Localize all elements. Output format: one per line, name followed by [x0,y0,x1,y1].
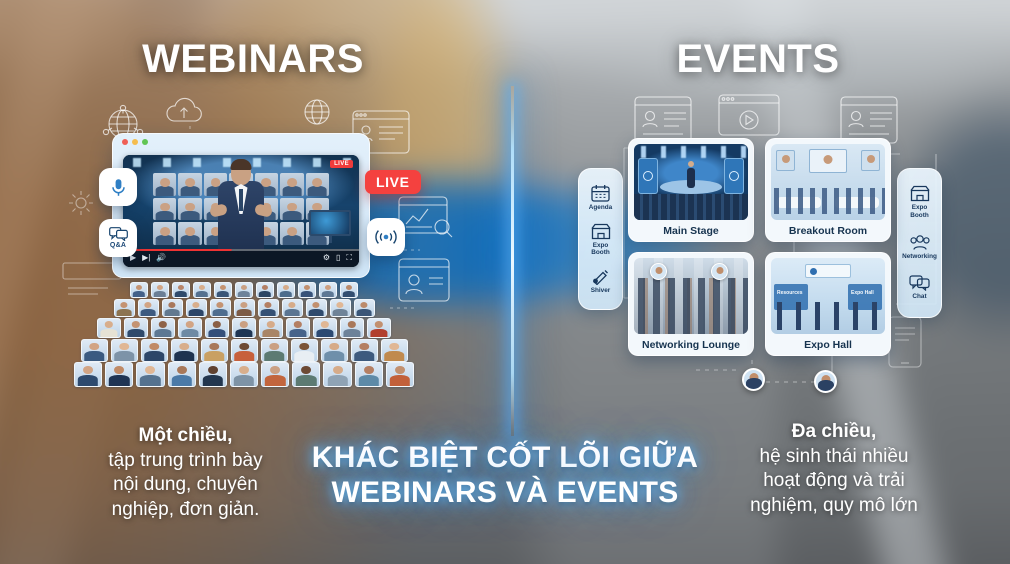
rail-item-expo-booth-right[interactable]: ExpoBooth [898,185,941,219]
event-card-expo-hall[interactable]: Resources Expo Hall Expo Hall [765,252,891,356]
right-description: Đa chiều, hệ sinh thái nhiều hoạt động v… [700,420,968,519]
stage-monitor [309,210,351,243]
audience-row [74,339,414,362]
decor-globe-icon [302,97,332,127]
center-divider [511,86,514,436]
center-statement-line2: WEBINARS VÀ EVENTS [300,475,710,510]
chat-bubbles-icon [909,275,930,291]
chat-bubbles-icon [109,227,128,241]
qa-chip-label: Q&A [110,242,126,249]
rail-item-expo-booth-left[interactable]: ExpoBooth [579,223,622,257]
rail-label-agenda: Agenda [589,204,612,211]
qa-chip[interactable]: Q&A [99,219,137,257]
event-card-caption: Breakout Room [766,220,890,241]
center-statement: KHÁC BIỆT CỐT LÕI GIỮA WEBINARS VÀ EVENT… [300,440,710,511]
theater-icon[interactable]: ▯ [336,254,340,262]
broadcast-chip[interactable] [367,218,405,256]
rail-label-expo-booth-left: ExpoBooth [591,242,609,257]
rail-label-shiver: Shiver [591,287,611,294]
calendar-icon [591,184,610,202]
rail-label-chat: Chat [912,293,926,300]
audience-row [74,282,414,298]
connector-avatar-1 [742,368,765,391]
rail-item-agenda[interactable]: Agenda [579,184,622,211]
attendee-tile [178,173,201,196]
attendee-tile [178,198,201,221]
window-maximize-dot[interactable] [142,139,148,145]
audience-row [74,362,414,387]
left-description-lead: Một chiều, [48,424,323,449]
settings-icon[interactable]: ⚙ [323,254,330,262]
window-titlebar [113,134,369,150]
expo-sign-right: Expo Hall [851,290,874,296]
heading-events: EVENTS [506,37,1010,82]
rail-item-shiver[interactable]: Shiver [579,268,622,294]
volume-icon[interactable]: 🔊 [156,254,166,262]
left-description-line2: nội dung, chuyên [48,473,323,498]
webinar-video-player[interactable]: LIVE ▶ ▶| 🔊 ⚙ ▯ ⛶ [123,155,359,267]
attendee-tile [280,222,303,245]
event-card-networking-lounge[interactable]: Networking Lounge [628,252,754,356]
webinar-audience-grid [74,282,414,387]
attendee-tile [153,222,176,245]
attendee-tile [280,173,303,196]
next-icon[interactable]: ▶| [142,254,150,262]
event-card-caption: Networking Lounge [629,334,753,355]
lounge-avatar-bubble [711,263,728,280]
rail-item-networking[interactable]: Networking [898,234,941,260]
events-rail-right[interactable]: ExpoBooth Networking Chat [897,168,942,318]
expo-hall-thumbnail: Resources Expo Hall [771,258,885,334]
left-description-line1: tập trung trình bày [48,449,323,474]
webinar-browser-window[interactable]: LIVE ▶ ▶| 🔊 ⚙ ▯ ⛶ [112,133,370,278]
event-card-caption: Expo Hall [766,334,890,355]
player-controls[interactable]: ▶ ▶| 🔊 ⚙ ▯ ⛶ [123,249,359,267]
left-description: Một chiều, tập trung trình bày nội dung,… [48,424,323,523]
microphone-icon [110,178,127,197]
live-badge: LIVE [365,170,421,194]
connector-avatar-2 [814,370,837,393]
audience-row [74,318,414,338]
event-card-caption: Main Stage [629,220,753,241]
booth-icon [591,223,611,240]
broadcast-icon [375,229,397,245]
left-description-line3: nghiệp, đơn giản. [48,498,323,523]
attendee-tile [306,173,329,196]
presenter-figure [212,161,270,253]
attendee-tile [280,198,303,221]
right-description-line1: hệ sinh thái nhiều [700,445,968,470]
audience-row [74,299,414,317]
expo-sign-left: Resources [777,290,803,296]
lounge-avatar-bubble [650,263,667,280]
decor-tablet-icon [888,316,922,368]
live-badge-small: LIVE [330,160,353,168]
events-rail-left[interactable]: Agenda ExpoBooth Shiver [578,168,623,310]
fullscreen-icon[interactable]: ⛶ [346,254,352,262]
people-icon [909,234,931,251]
heading-webinars: WEBINARS [0,37,506,82]
decor-gear-icon [68,190,94,216]
attendee-tile [153,173,176,196]
right-description-line3: nghiệm, quy mô lớn [700,494,968,519]
rail-item-chat[interactable]: Chat [898,275,941,300]
rail-label-networking: Networking [902,253,937,260]
attendee-tile [153,198,176,221]
microphone-chip[interactable] [99,168,137,206]
event-card-main-stage[interactable]: Main Stage [628,138,754,242]
right-description-line2: hoạt động và trải [700,469,968,494]
main-stage-thumbnail [634,144,748,220]
rail-label-expo-booth-right: ExpoBooth [910,204,928,219]
attendee-tile [178,222,201,245]
right-description-lead: Đa chiều, [700,420,968,445]
window-minimize-dot[interactable] [132,139,138,145]
booth-icon [910,185,930,202]
networking-lounge-thumbnail [634,258,748,334]
event-card-breakout-room[interactable]: Breakout Room [765,138,891,242]
center-statement-line1: KHÁC BIỆT CỐT LÕI GIỮA [300,440,710,475]
breakout-room-thumbnail [771,144,885,220]
window-close-dot[interactable] [122,139,128,145]
shiver-icon [591,268,611,285]
